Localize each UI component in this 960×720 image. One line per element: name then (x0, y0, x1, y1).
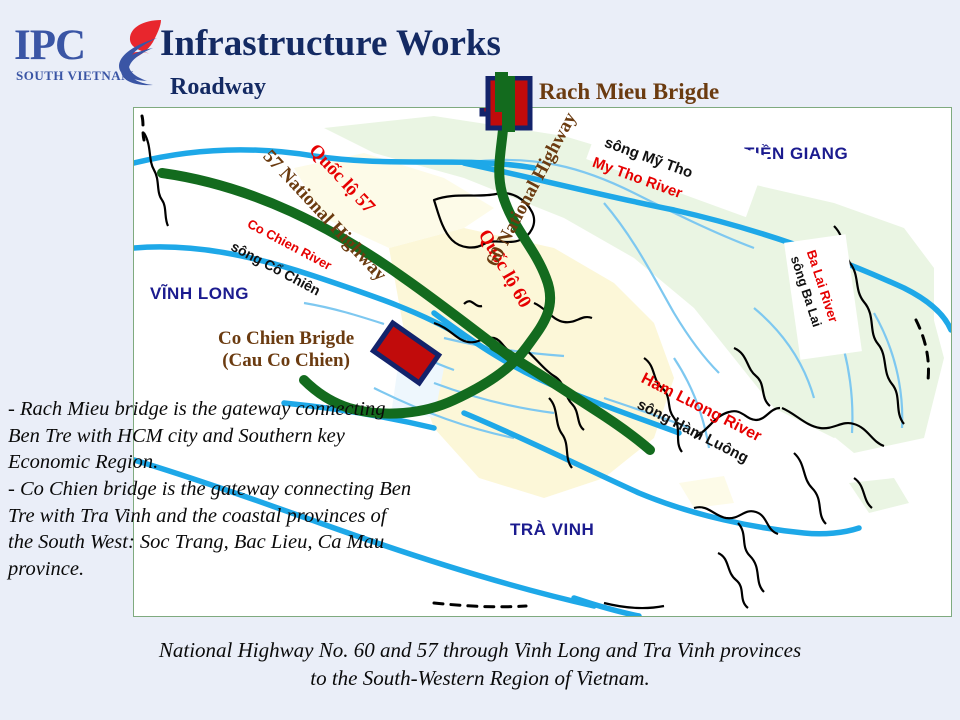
notes-line-3: Economic Region. (8, 449, 528, 476)
notes-line-4: - Co Chien bridge is the gateway connect… (8, 476, 528, 503)
slide-caption: National Highway No. 60 and 57 through V… (0, 636, 960, 693)
bridge-label-co-chien-main: Co Chien Brigde (218, 328, 354, 350)
caption-line-1: National Highway No. 60 and 57 through V… (0, 636, 960, 664)
slide-root: IPC SOUTH VIETNAM Infrastructure Works R… (0, 0, 960, 720)
notes-line-1: - Rach Mieu bridge is the gateway connec… (8, 396, 528, 423)
notes-line-2: Ben Tre with HCM city and Southern key (8, 423, 528, 450)
logo-wordmark: IPC (14, 24, 85, 67)
land-small-yellow (679, 476, 734, 508)
land-island-se (849, 478, 909, 513)
road-stub-rach-mieu (487, 72, 517, 112)
notes-block: - Rach Mieu bridge is the gateway connec… (8, 396, 528, 582)
logo-swoosh-icon (117, 18, 165, 88)
notes-line-5: Tre with Tra Vinh and the coastal provin… (8, 503, 528, 530)
page-title: Infrastructure Works (160, 22, 501, 65)
bridge-label-co-chien: Co Chien Brigde (Cau Co Chien) (218, 328, 354, 372)
province-label-vinh-long: VĨNH LONG (150, 284, 249, 304)
ipc-logo: IPC SOUTH VIETNAM (14, 18, 164, 88)
bridge-label-co-chien-sub: (Cau Co Chien) (218, 350, 354, 372)
bridge-label-rach-mieu: Rach Mieu Brigde (539, 79, 719, 105)
caption-line-2: to the South-Western Region of Vietnam. (0, 664, 960, 692)
page-subtitle: Roadway (170, 74, 266, 101)
notes-line-6: the South West: Soc Trang, Bac Lieu, Ca … (8, 529, 528, 556)
notes-line-7: province. (8, 556, 528, 583)
